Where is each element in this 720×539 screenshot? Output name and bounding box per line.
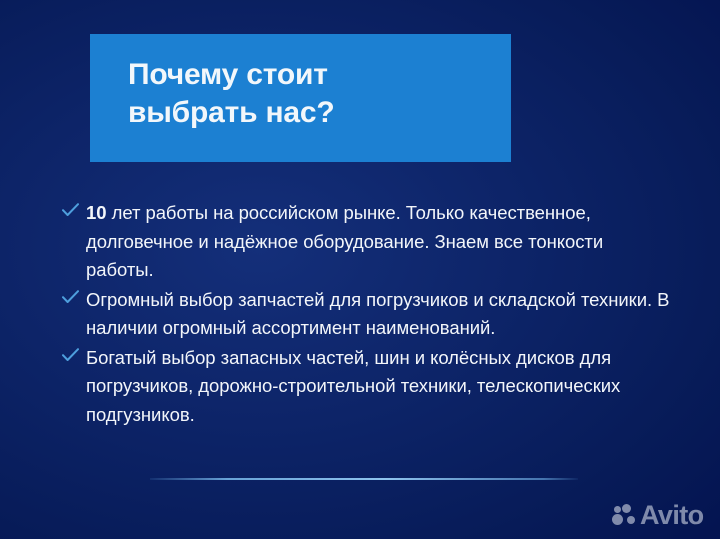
check-icon: [62, 344, 86, 362]
list-item-text: 10 лет работы на российском рынке. Тольк…: [86, 199, 672, 285]
avito-dots-icon: [612, 503, 637, 528]
check-icon: [62, 199, 86, 217]
title-banner: Почему стоит выбрать нас?: [90, 34, 511, 162]
list-item-text: Огромный выбор запчастей для погрузчиков…: [86, 286, 672, 343]
list-item: Огромный выбор запчастей для погрузчиков…: [62, 286, 672, 343]
list-item-body: Огромный выбор запчастей для погрузчиков…: [86, 289, 669, 339]
list-item: 10 лет работы на российском рынке. Тольк…: [62, 199, 672, 285]
check-icon: [62, 286, 86, 304]
avito-watermark: Avito: [612, 498, 704, 532]
list-item-body: Богатый выбор запасных частей, шин и кол…: [86, 347, 620, 425]
list-item-lead: 10: [86, 202, 106, 223]
divider: [150, 478, 578, 480]
list-item-body: лет работы на российском рынке. Только к…: [86, 202, 603, 280]
benefits-list: 10 лет работы на российском рынке. Тольк…: [62, 199, 672, 430]
list-item-text: Богатый выбор запасных частей, шин и кол…: [86, 344, 672, 430]
avito-wordmark: Avito: [640, 502, 704, 529]
list-item: Богатый выбор запасных частей, шин и кол…: [62, 344, 672, 430]
page-title: Почему стоит выбрать нас?: [128, 56, 498, 132]
slide-canvas: Почему стоит выбрать нас? 10 лет работы …: [0, 0, 720, 539]
